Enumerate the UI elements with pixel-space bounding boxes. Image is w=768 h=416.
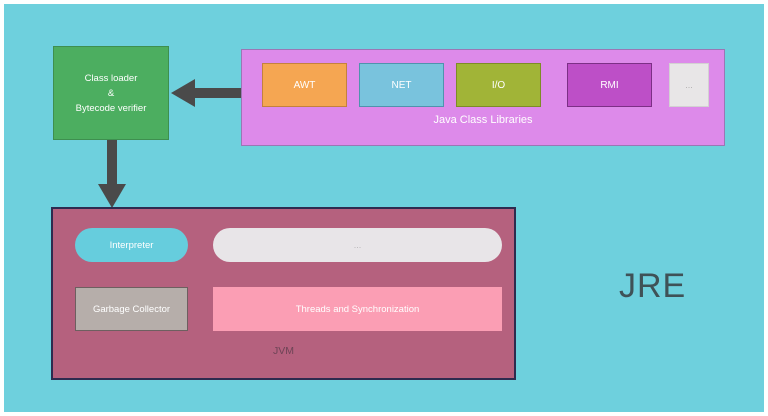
library-item-net-label: NET [392, 80, 412, 91]
class-loader-box[interactable]: Class loader & Bytecode verifier [53, 46, 169, 140]
arrow-libraries-to-classloader-head-icon [171, 79, 195, 107]
java-class-libraries-caption: Java Class Libraries [242, 114, 724, 126]
library-item-more[interactable]: ... [669, 63, 709, 107]
jre-title: JRE [619, 267, 686, 306]
class-loader-label: Class loader & Bytecode verifier [76, 71, 147, 116]
library-item-rmi-label: RMI [600, 80, 618, 91]
library-item-rmi[interactable]: RMI [567, 63, 652, 107]
library-item-more-label: ... [685, 80, 693, 90]
library-item-net[interactable]: NET [359, 63, 444, 107]
library-item-awt[interactable]: AWT [262, 63, 347, 107]
jvm-box: Interpreter ... Garbage Collector Thread… [51, 207, 516, 380]
interpreter-label: Interpreter [110, 240, 154, 251]
arrow-classloader-to-jvm-shaft [107, 140, 117, 190]
jvm-more-label: ... [354, 240, 362, 250]
diagram-canvas: Class loader & Bytecode verifier AWT NET… [4, 4, 764, 412]
library-item-io[interactable]: I/O [456, 63, 541, 107]
jvm-more-box[interactable]: ... [213, 228, 502, 262]
threads-and-synchronization-box[interactable]: Threads and Synchronization [213, 287, 502, 331]
threads-and-synchronization-label: Threads and Synchronization [296, 304, 420, 315]
jvm-caption: JVM [53, 345, 514, 357]
interpreter-box[interactable]: Interpreter [75, 228, 188, 262]
garbage-collector-label: Garbage Collector [93, 304, 170, 315]
library-items-row: AWT NET I/O RMI ... [242, 50, 724, 145]
library-item-awt-label: AWT [294, 80, 316, 91]
java-class-libraries-box: AWT NET I/O RMI ... Java Class Libraries [241, 49, 725, 146]
garbage-collector-box[interactable]: Garbage Collector [75, 287, 188, 331]
arrow-classloader-to-jvm-head-icon [98, 184, 126, 208]
library-item-io-label: I/O [492, 80, 505, 91]
